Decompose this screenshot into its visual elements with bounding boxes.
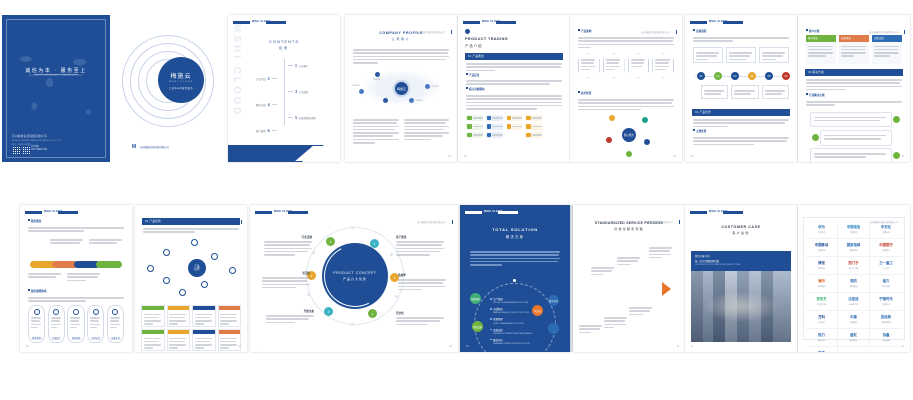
profile-two-columns [353, 117, 449, 148]
module-chip[interactable] [486, 124, 503, 130]
advantage-card[interactable] [192, 329, 216, 351]
hub-node-1[interactable] [609, 115, 615, 121]
module-chip[interactable] [525, 132, 542, 138]
client-mark: 西门子 [848, 261, 858, 265]
orbit-marker [312, 251, 315, 254]
page-cover[interactable]: 诚信为本 · 服务至上 INTEGRITY ORIENTED · SERVICE… [2, 15, 110, 162]
advantage-card-grid [141, 305, 241, 351]
timeline-step-2[interactable]: 02 [714, 72, 722, 80]
contents-title-cn: 目录 [228, 46, 340, 50]
concept-block-title: 安全性 [396, 311, 444, 315]
contents-item-5[interactable]: 5 标准化服务流程 [288, 115, 316, 120]
contents-item-4[interactable]: 解决方案 4 [256, 102, 277, 107]
service-capsule[interactable]: 系统实施 [67, 305, 84, 343]
process-note-2 [604, 315, 628, 331]
advantage-card[interactable] [141, 305, 165, 327]
value-card[interactable]: 流程规范 [839, 35, 869, 64]
contents-label: 产品介绍 [256, 77, 266, 81]
process-card[interactable] [759, 47, 789, 63]
module-chip[interactable] [506, 115, 523, 121]
page-number: 05 [901, 155, 904, 158]
header-bar-right [723, 21, 743, 24]
timeline-line [695, 76, 787, 77]
profile-column-left [353, 119, 399, 145]
profile-column-right [404, 119, 450, 145]
radial-node-2[interactable] [163, 249, 170, 256]
orbit-marker [351, 323, 354, 326]
avatar [893, 116, 900, 123]
page-number: 04 [691, 155, 694, 158]
contents-dash [272, 78, 277, 79]
page-number: 09 [466, 345, 469, 348]
page-total-solution[interactable]: MSHI CLOUD TOTAL SOLUTION 解决方案 智能制造 数字车间… [460, 205, 570, 352]
radial-node-4[interactable] [147, 265, 154, 272]
page-product-trading[interactable]: MSHI CLOUD PRODUCT TRADING 产品介绍 01 产品概述 … [458, 15, 570, 162]
contents-num: 3 [295, 89, 297, 94]
contents-label: 解决方案 [256, 103, 266, 107]
page-header-right: 苏州梅施信息科技有限公司 [641, 20, 677, 25]
client-name: 万科地产 [818, 321, 826, 324]
section-band: 04 产品优势 [142, 218, 240, 225]
process-card[interactable] [693, 47, 723, 63]
hub-node-2[interactable] [642, 117, 648, 123]
timeline-step-6[interactable]: 06 [782, 72, 790, 80]
hex-card[interactable] [628, 53, 650, 78]
map-center-node: 梅施云 [395, 82, 408, 95]
client-logo-cell[interactable]: 比亚迪比亚迪汽车 [838, 293, 870, 311]
subsection-1-title: 产品定位 [466, 73, 479, 77]
client-logo-cell[interactable]: 协鑫协鑫能源 [870, 329, 902, 347]
contents-item-6[interactable]: 客户案例 6 [256, 128, 277, 133]
page-service-process[interactable]: 苏州梅施信息科技有限公司 STANDARDIZED SERVICE PROCES… [573, 205, 685, 352]
map-node-4[interactable] [383, 98, 388, 103]
brand-logo-circle: 梅施云 MSHI CLOUD 工业SaaS软件服务 [158, 57, 204, 103]
chat-bubble[interactable] [810, 148, 892, 162]
process-card[interactable] [762, 85, 789, 99]
map-node-1[interactable] [375, 72, 380, 77]
map-node-label-3: 华南区域 [415, 99, 423, 102]
header-bar-left [25, 211, 42, 214]
radial-node-7[interactable] [201, 281, 208, 288]
solution-item[interactable]: 设备运维EQUIPMENT OPERATION AND MAINTENANCE [490, 328, 550, 335]
brand-name-en: MSHI CLOUD [169, 81, 193, 83]
page-number: 01 [448, 155, 451, 158]
orbit-marker [351, 226, 354, 229]
product-title-en: PRODUCT TRADING [465, 37, 508, 41]
solution-item-name: 设备运维 [493, 328, 532, 332]
timeline-step-1[interactable]: 01 [697, 72, 705, 80]
process-card[interactable] [726, 47, 756, 63]
module-chip[interactable] [466, 132, 483, 138]
map-node-2[interactable] [425, 84, 430, 89]
page-customer-case[interactable]: MSHI CLOUD CUSTOMER CASE 客户案例 我们与客户的 每一次… [685, 205, 797, 352]
process-card[interactable] [731, 85, 758, 99]
page-number: 02 [464, 155, 467, 158]
radial-node-6[interactable] [163, 277, 170, 284]
module-chip[interactable] [525, 115, 542, 121]
client-logo-cell[interactable]: 中国电信中国电信 [838, 221, 870, 239]
orbit-marker [307, 293, 310, 296]
contents-item-1[interactable]: 1 公司简介 [288, 63, 309, 68]
map-node-3[interactable] [409, 98, 414, 103]
map-node-label-2: 华东区域 [431, 85, 439, 88]
client-name: 中国石化 [882, 231, 890, 234]
solution-item-en: PRODUCTION MANAGEMENT SOLUTION [493, 302, 528, 304]
header-company: 苏州梅施信息科技有限公司 [641, 32, 670, 34]
solution-bubble-4[interactable]: 质量追溯 [472, 321, 483, 332]
advantages-text [693, 137, 789, 147]
capsule-icon [73, 309, 79, 315]
contents-label: 客户案例 [256, 129, 266, 133]
client-mark: 格力 [883, 279, 890, 283]
client-mark: 招商局 [881, 315, 891, 319]
page-service-philosophy[interactable]: MSHI CLOUD 服务理念 服务保障体系 售前咨询 方案设计 系统实施 [20, 205, 132, 352]
client-logo-cell[interactable]: 宁德时代宁德时代 [870, 293, 902, 311]
client-logo-cell[interactable]: 华为华为技术 [806, 221, 838, 239]
hex-card[interactable] [578, 53, 600, 78]
contents-num: 5 [295, 115, 297, 120]
header-bar-left [255, 211, 272, 214]
capsule-label: 运维支持 [108, 336, 123, 340]
page-contents[interactable]: MSHI CLOUD CONTENTS 目录 1 公司简介 产品介绍 2 3 产… [228, 15, 340, 162]
header-company: 苏州梅施信息科技有限公司 [417, 222, 446, 224]
header-tick [904, 30, 905, 34]
module-chip[interactable] [466, 124, 483, 130]
page-header: MSHI CLOUD [463, 20, 565, 25]
solution-item-name: 质量管理 [493, 317, 524, 321]
module-chip-spacer [506, 132, 523, 138]
concept-node-2[interactable]: ✦ [370, 239, 379, 248]
page-number: · [256, 345, 257, 348]
client-name: 协鑫能源 [882, 339, 890, 342]
arrow-head-icon [662, 282, 671, 296]
avatar [812, 134, 819, 141]
page-number: 03 [673, 155, 676, 158]
overview-text [466, 63, 562, 73]
subsection-1-title: 服务理念 [28, 219, 41, 223]
client-name: 盛虹集团 [850, 339, 858, 342]
client-name: 国家电网 [850, 249, 858, 252]
subsection-1-title: 实施流程 [693, 29, 706, 33]
client-mark: 博世 [818, 261, 825, 265]
page-header: MSHI CLOUD [465, 210, 565, 215]
concept-node-6[interactable]: ✦ [368, 309, 377, 318]
capability-hub-diagram: 核心能力 [576, 111, 676, 159]
profile-intro-text [353, 49, 449, 65]
header-bar-left [465, 211, 482, 214]
ribbon-graphic [30, 257, 122, 271]
page-header: MSHI CLOUD [233, 20, 335, 25]
client-logo-cell[interactable]: 中石化中国石化 [870, 221, 902, 239]
concept-block-title: 易于使用 [396, 235, 444, 239]
capsule-icon [93, 309, 99, 315]
timeline-step-4[interactable]: 04 [748, 72, 756, 80]
advantage-card[interactable] [218, 305, 242, 327]
header-company: 苏州梅施信息科技有限公司 [644, 222, 673, 224]
client-mark: 中国移动 [815, 243, 829, 247]
client-name: 中国移动 [818, 249, 826, 252]
footer-brand-row: M 苏州梅施信息科技有限公司 [132, 144, 169, 150]
solution-item-name: 数据分析 [493, 338, 530, 342]
client-logo-cell[interactable]: 中国移动中国移动 [806, 239, 838, 257]
module-chip[interactable] [486, 132, 503, 138]
client-logo-cell[interactable]: 京东方京东方科技 [806, 293, 838, 311]
orbit-marker [395, 295, 398, 298]
client-name: 西门子中国 [849, 267, 858, 270]
contents-dash [272, 130, 277, 131]
page-product-advantages[interactable]: 苏州梅施信息科技有限公司 04 产品优势 产品 优势 [135, 205, 247, 352]
qr-code-wechat [12, 146, 20, 154]
client-name: 格力电器 [882, 285, 890, 288]
value-card[interactable]: 降本增效 [806, 35, 836, 64]
header-bar-right [498, 211, 518, 214]
subsection-2-text [466, 95, 562, 111]
subsection-2-title: 行业解决方案 [806, 93, 825, 97]
client-mark: 中石化 [881, 225, 891, 229]
page-product-concept[interactable]: MSHI CLOUD 苏州梅施信息科技有限公司 PRODUCT CONCEPT … [250, 205, 458, 352]
contents-item-3[interactable]: 3 产品优势 [288, 89, 309, 94]
hub-node-3[interactable] [606, 137, 612, 143]
client-logo-cell[interactable]: 中建中建集团 [838, 311, 870, 329]
band-text [693, 119, 789, 129]
advantage-card[interactable] [192, 305, 216, 327]
section-band: 02 产品优势 [692, 109, 790, 116]
cover-company-en: SUZHOU MSHI INFORMATION TECHNOLOGY CO., … [12, 140, 61, 143]
page-header-right: 苏州梅施信息科技有限公司 [416, 20, 452, 25]
client-logo-grid: 华为华为技术 中国电信中国电信 中石化中国石化 中国移动中国移动 国家电网国家电… [806, 221, 902, 352]
client-logo-cell[interactable]: 格力格力电器 [870, 275, 902, 293]
page-product-architecture[interactable]: 苏州梅施信息科技有限公司 产品架构 技术优势 核心能力 03 [570, 15, 682, 162]
capsule-label: 培训交付 [88, 336, 103, 340]
process-note-5 [617, 255, 641, 268]
value-card-title: 降本增效 [806, 35, 836, 42]
chat-bubble-list [810, 109, 892, 162]
module-chip-spacer [545, 132, 562, 138]
header-tick [676, 30, 677, 34]
header-tick [451, 30, 452, 34]
contents-dash [288, 65, 293, 66]
client-mark: 三一重工 [879, 261, 893, 265]
page-header-right: 苏州梅施信息科技有限公司 [869, 210, 905, 215]
client-mark: 恒力 [818, 333, 825, 337]
service-capsule[interactable]: 培训交付 [87, 305, 104, 343]
client-name: 招商局集团 [881, 321, 890, 324]
capsule-label: 系统实施 [68, 336, 83, 340]
module-chip[interactable] [486, 115, 503, 121]
client-name: 宁德时代 [882, 303, 890, 306]
solution-item[interactable]: 质量管理QUALITY MANAGEMENT SOLUTION [490, 317, 550, 324]
concept-block-2: 灵活性 [262, 271, 310, 291]
client-name: 恒力石化 [818, 339, 826, 342]
page-number: 08 [449, 345, 452, 348]
client-name: 美的集团 [850, 285, 858, 288]
client-logo-cell[interactable]: 亨通亨通光电 [806, 347, 838, 352]
client-name: 中建集团 [850, 321, 858, 324]
ribbon-segment-4 [96, 261, 122, 268]
header-tick [452, 220, 453, 224]
advantage-card[interactable] [141, 329, 165, 351]
concept-block-3: 开放生态 [266, 309, 314, 326]
concept-block-title: 行业定制 [264, 235, 312, 239]
concept-node-1[interactable]: ✦ [326, 237, 335, 246]
header-company: 苏州梅施信息科技有限公司 [416, 32, 445, 34]
capsule-icon [112, 309, 118, 315]
hex-card[interactable] [603, 53, 625, 78]
subsection-2-title: 技术优势 [578, 91, 591, 95]
radial-node-5[interactable] [229, 267, 236, 274]
solution-item[interactable]: 生产管理PRODUCTION MANAGEMENT SOLUTION [490, 297, 550, 304]
hub-node-5[interactable] [626, 151, 632, 157]
client-logo-cell[interactable]: 中国银行中国银行 [870, 239, 902, 257]
subsection-2-title: 核心功能模块 [466, 87, 485, 91]
hub-node-4[interactable] [644, 139, 650, 145]
contents-label: 公司简介 [299, 64, 309, 68]
client-logo-cell[interactable]: 盛虹盛虹集团 [838, 329, 870, 347]
client-logo-cell[interactable]: 万科万科地产 [806, 311, 838, 329]
capsule-label: 方案设计 [49, 336, 64, 340]
qr-label-2: 扫码了解更多详情 [31, 149, 47, 152]
solution-item-en: WAREHOUSE AND LOGISTICS SOLUTION [493, 312, 529, 314]
handshake-highlight [703, 291, 779, 322]
footer-company-name: 苏州梅施信息科技有限公司 [140, 145, 169, 149]
contents-item-2[interactable]: 产品介绍 2 [256, 76, 277, 81]
process-note-6 [649, 245, 673, 261]
client-logo-cell[interactable]: 美的美的集团 [838, 275, 870, 293]
concept-block-5: 高效率 [398, 273, 446, 293]
service-capsule[interactable]: 售前咨询 [28, 305, 45, 343]
qr-code-website [22, 146, 30, 154]
radial-node-3[interactable] [211, 253, 218, 260]
page-logo[interactable]: 梅施云 MSHI CLOUD 工业SaaS软件服务 M 苏州梅施信息科技有限公司 [110, 15, 220, 162]
contents-label: 标准化服务流程 [299, 116, 316, 120]
contents-num: 4 [268, 102, 270, 107]
guarantee-text [28, 297, 124, 304]
subsection-1-text [466, 80, 562, 87]
client-logo-cell[interactable]: 恒力恒力石化 [806, 329, 838, 347]
case-caption-en: TRUSTWORTHY COOPERATION WITH EVERY CLIEN… [695, 264, 787, 266]
page-number: 06 [26, 345, 29, 348]
client-logo-cell[interactable]: 招商局招商局集团 [870, 311, 902, 329]
chat-bubble[interactable] [810, 112, 892, 128]
client-mark: 国家电网 [847, 243, 861, 247]
product-title-cn: 产品介绍 [465, 43, 483, 48]
timeline-step-5[interactable]: 05 [765, 72, 773, 80]
page-header-right: 苏州梅施信息科技有限公司 [206, 210, 242, 215]
client-name: 三一重工 [882, 267, 890, 270]
client-logo-cell[interactable]: 三一重工三一重工 [870, 257, 902, 275]
map-node-5[interactable] [359, 89, 364, 94]
process-title-cn: 标准化服务流程 [573, 227, 685, 231]
module-chip-grid [466, 115, 562, 138]
value-card[interactable]: 决策支撑 [872, 35, 902, 64]
process-stair-chart: 01 02 03 04 05 06 [579, 285, 679, 317]
client-logo-cell[interactable]: 博世博世科技 [806, 257, 838, 275]
process-note-4 [591, 265, 615, 278]
concept-node-5[interactable]: ✦ [324, 307, 333, 316]
brand-name-cn: 梅施云 [170, 71, 191, 80]
client-mark: 协鑫 [883, 333, 890, 337]
client-logo-cell[interactable]: 西门子西门子中国 [838, 257, 870, 275]
page-number: 11 [691, 345, 693, 348]
client-mark: 中国电信 [847, 225, 861, 229]
page-solutions-intro[interactable]: 苏州梅施信息科技有限公司 客户价值 降本增效 流程规范 决策支撑 03 解决方案… [798, 15, 910, 162]
solution-bubble-1[interactable]: 智能制造 [470, 293, 481, 304]
module-chip-spacer [545, 124, 562, 130]
timeline-step-3[interactable]: 03 [731, 72, 739, 80]
section-band: 01 产品概述 [465, 53, 563, 60]
process-cards-top [693, 47, 789, 63]
advantage-card[interactable] [167, 329, 191, 351]
client-mark: 京东方 [816, 297, 826, 301]
hex-card[interactable] [652, 53, 674, 78]
accent-dot-icon [465, 29, 470, 34]
client-logo-cell[interactable]: 国家电网国家电网 [838, 239, 870, 257]
page-header-right: 苏州梅施信息科技有限公司 [417, 210, 453, 215]
service-capsule[interactable]: 运维支持 [107, 305, 124, 343]
process-card[interactable] [701, 85, 728, 99]
solution-title-en: TOTAL SOLUTION [460, 227, 570, 232]
module-chip[interactable] [466, 115, 483, 121]
section-band: 03 解决方案 [805, 69, 903, 76]
client-mark: 宁德时代 [879, 297, 893, 301]
solution-item[interactable]: 数据分析DATA ANALYSIS AND DECISION SOLUTION [490, 338, 550, 345]
process-text [693, 37, 789, 44]
module-chip-spacer [545, 115, 562, 121]
solution-item-name: 生产管理 [493, 297, 528, 301]
concept-block-title: 高效率 [398, 273, 446, 277]
arc-top-marker [513, 279, 516, 282]
module-chip[interactable] [525, 124, 542, 130]
contents-num: 1 [295, 63, 297, 68]
service-capsule[interactable]: 方案设计 [48, 305, 65, 343]
concept-block-1: 行业定制 [264, 235, 312, 259]
radial-node-1[interactable] [191, 239, 198, 246]
solution-item[interactable]: 仓储物流WAREHOUSE AND LOGISTICS SOLUTION [490, 307, 550, 314]
page-header-right: 苏州梅施信息科技有限公司 [869, 20, 905, 25]
client-mark: 中建 [850, 315, 857, 319]
page-client-logos[interactable]: 苏州梅施信息科技有限公司 华为华为技术 中国电信中国电信 中石化中国石化 中国移… [798, 205, 910, 352]
china-map-diagram: 梅施云 华北区域 华东区域 华南区域 华中区域 [353, 65, 449, 111]
client-mark: 比亚迪 [848, 297, 858, 301]
module-chip[interactable] [506, 124, 523, 130]
page-company-profile[interactable]: 苏州梅施信息科技有限公司 COMPANY PROFILE 公司简介 梅施云 华北… [345, 15, 457, 162]
subsection-2-title: 主要优势 [693, 129, 706, 133]
header-bar-right [288, 211, 308, 214]
header-bar-right [266, 21, 286, 24]
page-header: MSHI CLOUD [690, 210, 792, 215]
philosophy-text [28, 227, 124, 234]
process-note-1 [579, 323, 603, 336]
solution-text [806, 79, 902, 92]
concept-block-6: 安全性 [396, 311, 444, 328]
chat-bubble[interactable] [820, 130, 892, 146]
case-caption-box: 我们与客户的 每一次合作都值得信赖 TRUSTWORTHY COOPERATIO… [691, 251, 791, 271]
cover-qr-codes [12, 146, 30, 154]
subsection-1-title: 客户价值 [806, 29, 819, 33]
ribbon-top-notes [50, 237, 124, 249]
page-implementation-process[interactable]: MSHI CLOUD 实施流程 01 02 03 04 05 06 02 产品优… [685, 15, 797, 162]
header-bar-left [690, 21, 707, 24]
mshi-mark-icon: M [132, 144, 138, 150]
radial-node-8[interactable] [179, 289, 186, 296]
concept-block-title: 灵活性 [262, 271, 310, 275]
client-logo-cell[interactable]: 海尔海尔集团 [806, 275, 838, 293]
advantage-card[interactable] [167, 305, 191, 327]
radial-center: 产品 优势 [188, 259, 206, 277]
page-header: MSHI CLOUD [25, 210, 127, 215]
client-mark: 华为 [818, 225, 825, 229]
case-caption-line2: 每一次合作都值得信赖 [695, 259, 787, 263]
